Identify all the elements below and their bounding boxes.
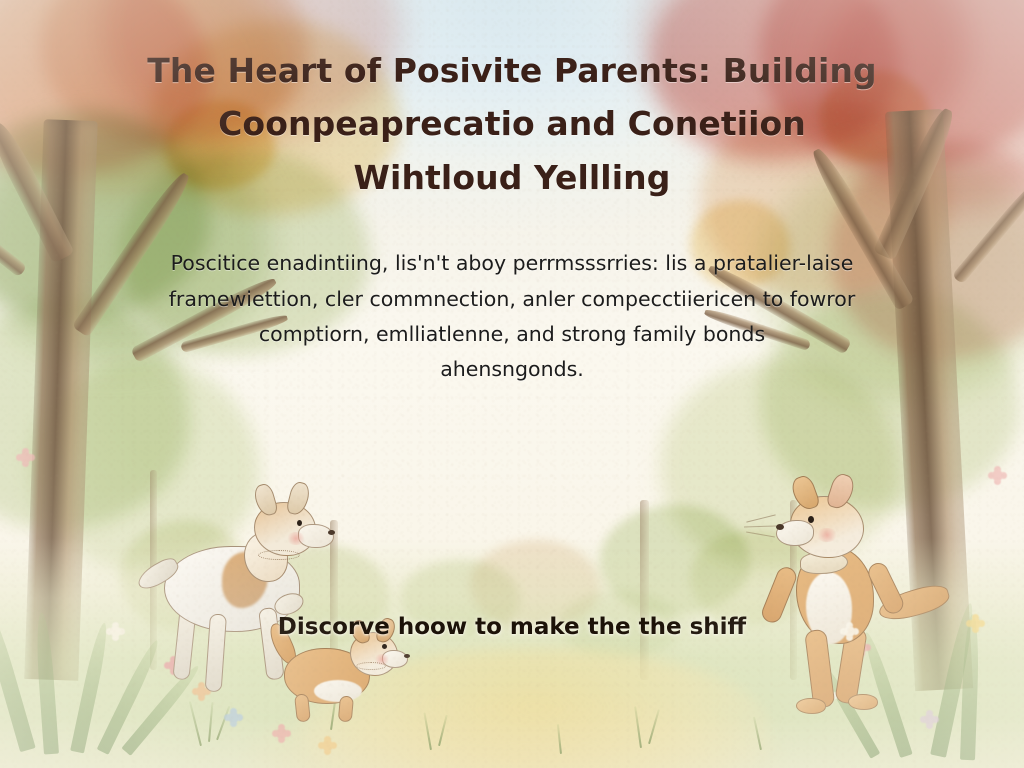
poster-body: Poscitice enadintiing, lis'n't aboy perr…	[0, 246, 1024, 387]
flower-rose	[276, 728, 287, 739]
title-line-3: Wihtloud Yellling	[96, 151, 928, 204]
call-to-action-text: Discorve hoow to make the the shiff	[0, 614, 1024, 640]
poster-text-block: The Heart of Posivite Parents: Building …	[0, 44, 1024, 387]
title-line-1: The Heart of Posivite Parents: Building	[96, 44, 928, 97]
watercolor-poster: The Heart of Posivite Parents: Building …	[0, 0, 1024, 768]
flower-blue-2	[20, 452, 31, 463]
title-line-2: Coonpeaprecatio and Conetiion	[96, 97, 928, 150]
flower-peach-2	[992, 470, 1003, 481]
walking-fox-character	[760, 480, 950, 715]
body-line-1: Poscitice enadintiing, lis'n't aboy perr…	[108, 246, 916, 281]
poster-title: The Heart of Posivite Parents: Building …	[0, 44, 1024, 204]
body-line-2: framewiettion, cler commnection, anler c…	[108, 282, 916, 317]
body-line-3: comptiorn, emlliatlenne, and strong fami…	[108, 317, 916, 352]
body-line-4: ahensngonds.	[108, 352, 916, 387]
flower-lilac	[924, 714, 935, 725]
flower-amber	[322, 740, 333, 751]
flower-blue	[228, 712, 239, 723]
